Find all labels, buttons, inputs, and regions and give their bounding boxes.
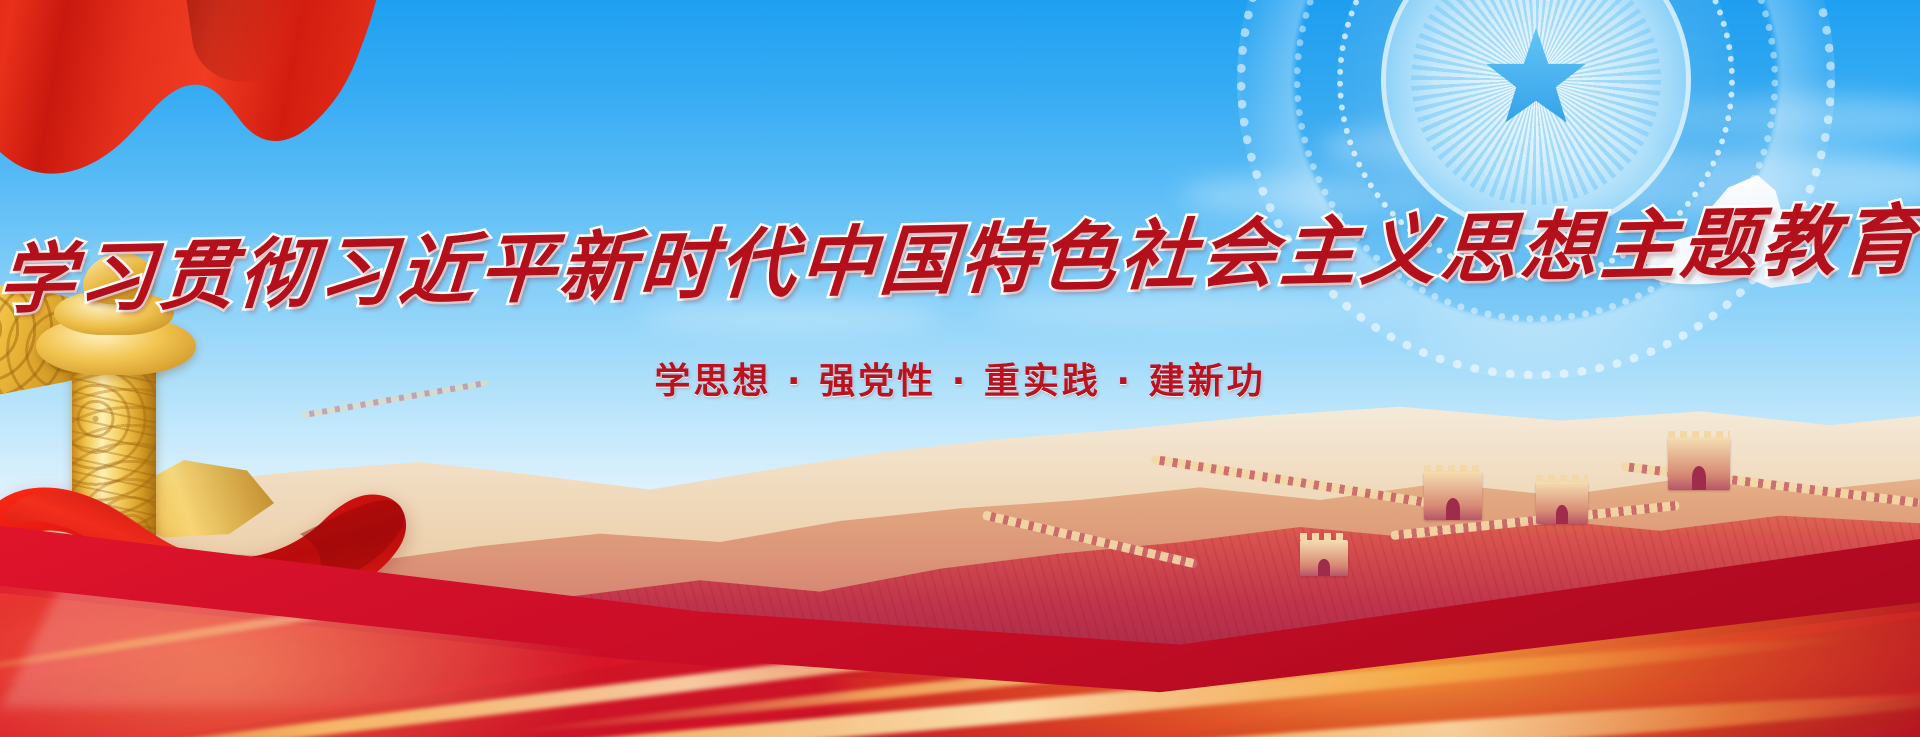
- watchtower-icon: [1424, 472, 1482, 520]
- watchtower-icon: [1536, 482, 1588, 524]
- propaganda-banner: 学习贯彻习近平新时代中国特色社会主义思想主题教育 学思想 · 强党性 · 重实践…: [0, 0, 1920, 737]
- watchtower-icon: [1668, 438, 1730, 490]
- headline-container: 学习贯彻习近平新时代中国特色社会主义思想主题教育: [0, 222, 1920, 298]
- subline-container: 学思想 · 强党性 · 重实践 · 建新功: [0, 352, 1920, 404]
- cloud-icon: [1660, 95, 1920, 141]
- banner-subline: 学思想 · 强党性 · 重实践 · 建新功: [654, 352, 1265, 404]
- watchtower-icon: [1300, 540, 1348, 576]
- flag-fold: [182, 0, 327, 88]
